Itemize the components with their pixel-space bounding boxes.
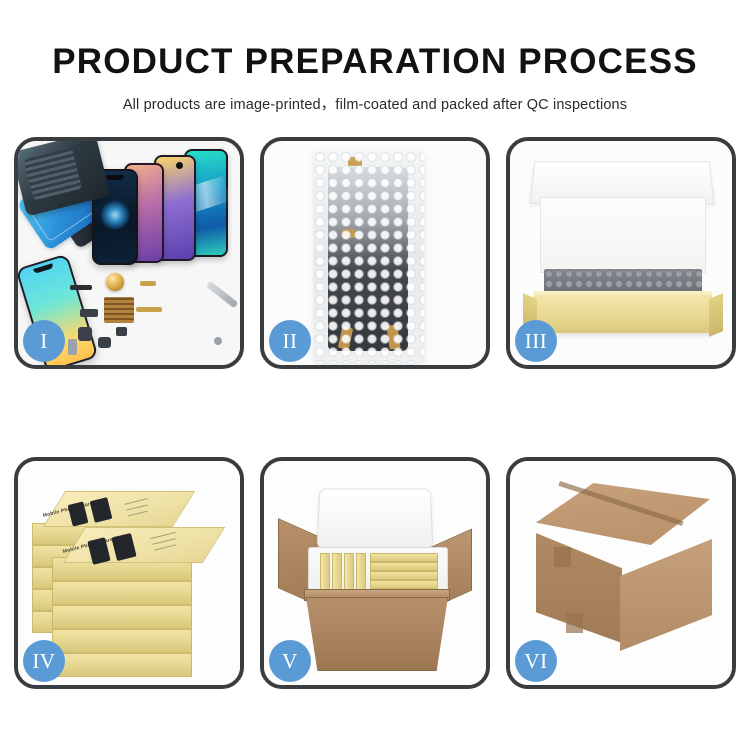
- process-step-panel-1: I: [14, 137, 244, 369]
- header: PRODUCT PREPARATION PROCESS All products…: [0, 0, 750, 114]
- carton-top-face-icon: [536, 483, 710, 545]
- carton-tape-patch-lower-icon: [566, 613, 583, 633]
- page-subtitle: All products are image-printed，film-coat…: [0, 93, 750, 114]
- yellow-box-front-icon: [532, 297, 714, 333]
- bubble-texture: [314, 151, 424, 363]
- page-title: PRODUCT PREPARATION PROCESS: [0, 42, 750, 82]
- process-step-grid: I II: [14, 137, 736, 689]
- part-strip-icon: [70, 285, 92, 290]
- stacked-box: [52, 605, 192, 629]
- stacked-box: [52, 629, 192, 653]
- step-badge-3: III: [515, 320, 557, 362]
- step-badge-5: V: [269, 640, 311, 682]
- foam-sheet-icon: [540, 197, 706, 273]
- stacked-box: [52, 581, 192, 605]
- product-preparation-infographic: PRODUCT PREPARATION PROCESS All products…: [0, 0, 750, 750]
- bubble-wrap-bag-icon: [314, 151, 424, 363]
- part-screw-icon: [214, 337, 222, 345]
- screwdriver-icon: [206, 281, 239, 309]
- stacked-box: [52, 653, 192, 677]
- packed-box: [370, 571, 438, 580]
- chip-array-icon: [104, 297, 134, 323]
- packed-box: [370, 562, 438, 571]
- process-step-panel-3: III: [506, 137, 736, 369]
- carton-tape-patch-upper-icon: [554, 547, 571, 567]
- packed-box: [370, 553, 438, 562]
- part-button-icon: [116, 327, 127, 336]
- process-step-panel-4: Mobile Phone Spare Parts Mobile Phone Sp…: [14, 457, 244, 689]
- part-flex-cable-icon: [136, 307, 162, 312]
- carton-front-icon: [306, 597, 448, 671]
- process-step-panel-6: VI: [506, 457, 736, 689]
- process-step-panel-5: V: [260, 457, 490, 689]
- process-step-panel-2: II: [260, 137, 490, 369]
- part-sim-tray-icon: [68, 339, 77, 355]
- part-speaker-icon: [98, 337, 111, 348]
- step-badge-1: I: [23, 320, 65, 362]
- step-badge-2: II: [269, 320, 311, 362]
- step-badge-4: IV: [23, 640, 65, 682]
- camera-module-icon: [106, 273, 124, 291]
- part-connector-icon: [80, 309, 98, 317]
- foam-lid-icon: [317, 489, 434, 549]
- step-badge-6: VI: [515, 640, 557, 682]
- packed-box: [370, 580, 438, 589]
- part-gold-flex-icon: [140, 281, 156, 286]
- carton-right-face-icon: [620, 539, 712, 651]
- part-chip-icon: [78, 327, 92, 341]
